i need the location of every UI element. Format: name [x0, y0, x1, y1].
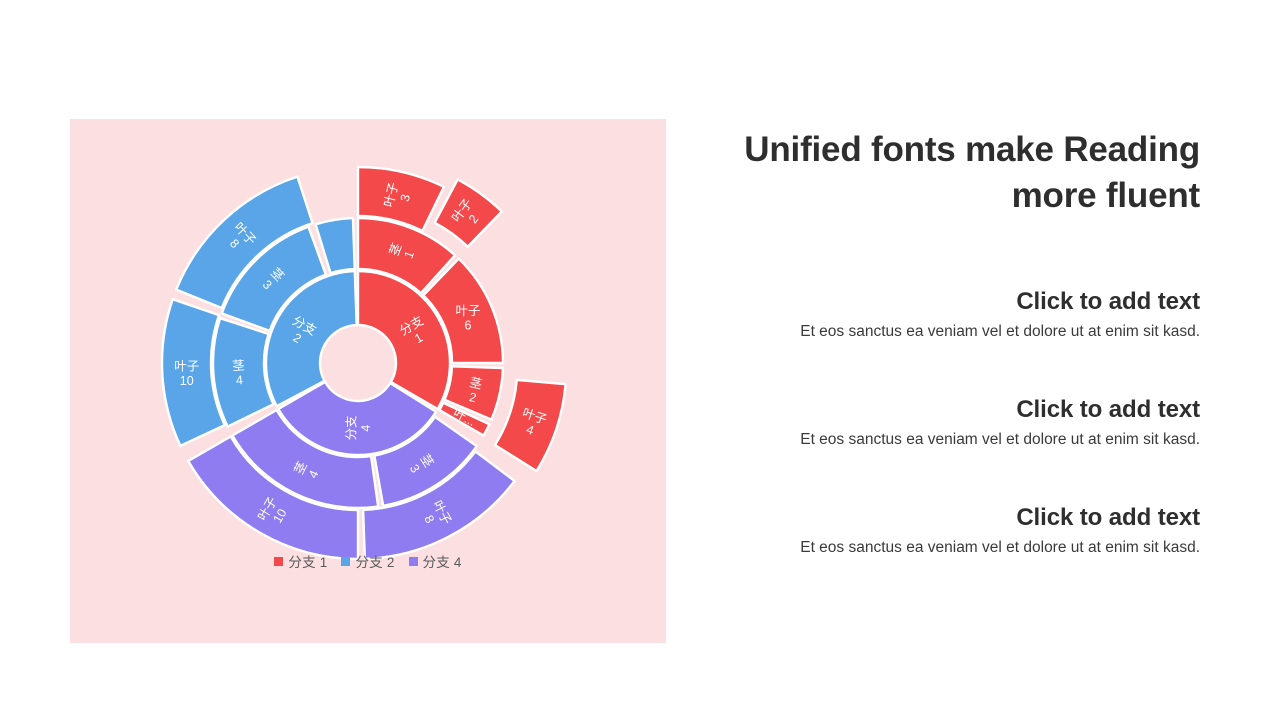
block-body-text[interactable]: Et eos sanctus ea veniam vel et dolore u… — [700, 430, 1200, 451]
right-content-panel: Unified fonts make Reading more fluent C… — [700, 119, 1200, 619]
page-title: Unified fonts make Reading more fluent — [700, 119, 1200, 219]
chart-legend[interactable]: 分支 1分支 2分支 4 — [70, 551, 666, 571]
legend-label: 分支 2 — [355, 551, 394, 571]
block-heading[interactable]: Click to add text — [700, 504, 1200, 532]
text-block[interactable]: Click to add textEt eos sanctus ea venia… — [700, 504, 1200, 559]
legend-item[interactable]: 分支 4 — [409, 551, 462, 571]
legend-label: 分支 1 — [288, 551, 327, 571]
text-block[interactable]: Click to add textEt eos sanctus ea venia… — [700, 288, 1200, 343]
legend-item[interactable]: 分支 1 — [274, 551, 327, 571]
legend-item[interactable]: 分支 2 — [341, 551, 394, 571]
block-body-text[interactable]: Et eos sanctus ea veniam vel et dolore u… — [700, 538, 1200, 559]
chart-panel: 分支1分支2分支4茎1叶子6茎2叶...茎3茎4茎3茎4叶子3叶子2叶子4叶子8… — [70, 119, 666, 643]
sunburst-sectors[interactable] — [162, 167, 566, 559]
legend-label: 分支 4 — [423, 551, 462, 571]
legend-swatch-icon — [409, 557, 418, 566]
text-block[interactable]: Click to add textEt eos sanctus ea venia… — [700, 396, 1200, 451]
text-block-list: Click to add textEt eos sanctus ea venia… — [700, 288, 1200, 559]
legend-swatch-icon — [274, 557, 283, 566]
slide: 分支1分支2分支4茎1叶子6茎2叶...茎3茎4茎3茎4叶子3叶子2叶子4叶子8… — [0, 0, 1280, 720]
block-body-text[interactable]: Et eos sanctus ea veniam vel et dolore u… — [700, 322, 1200, 343]
block-heading[interactable]: Click to add text — [700, 288, 1200, 316]
legend-swatch-icon — [341, 557, 350, 566]
block-heading[interactable]: Click to add text — [700, 396, 1200, 424]
